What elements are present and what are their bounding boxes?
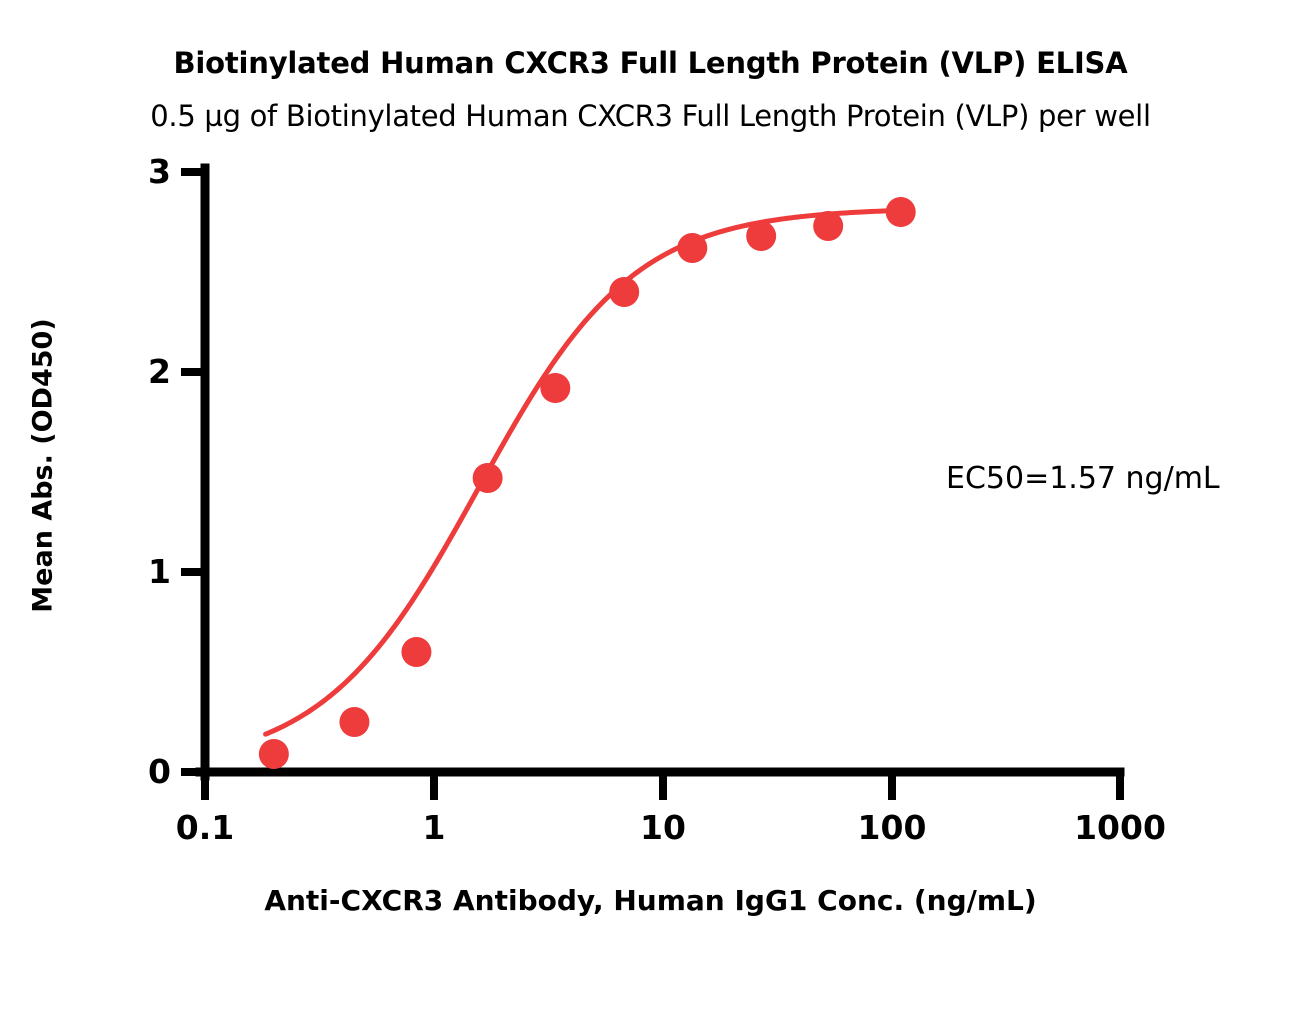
- x-tick-label-10: 10: [640, 808, 686, 847]
- data-point: [259, 739, 289, 769]
- x-tick-label-0p1: 0.1: [176, 808, 234, 847]
- data-point: [746, 221, 776, 251]
- data-point: [886, 197, 916, 227]
- y-tick-label-2: 2: [131, 352, 171, 391]
- y-tick-label-3: 3: [131, 152, 171, 191]
- y-tick-label-1: 1: [131, 552, 171, 591]
- data-point: [677, 233, 707, 263]
- data-point: [609, 277, 639, 307]
- y-tick-label-0: 0: [131, 752, 171, 791]
- x-axis-label: Anti-CXCR3 Antibody, Human IgG1 Conc. (n…: [0, 884, 1301, 917]
- data-point: [401, 637, 431, 667]
- x-tick-label-1: 1: [423, 808, 446, 847]
- elisa-chart-figure: Biotinylated Human CXCR3 Full Length Pro…: [0, 0, 1301, 1029]
- plot-area: [0, 0, 1301, 1029]
- data-point: [473, 463, 503, 493]
- sigmoid-fit-curve: [266, 210, 901, 734]
- data-point: [813, 211, 843, 241]
- data-point: [339, 707, 369, 737]
- data-point: [540, 373, 570, 403]
- ec50-annotation: EC50=1.57 ng/mL: [946, 461, 1220, 496]
- x-tick-label-1000: 1000: [1074, 808, 1166, 847]
- x-tick-label-100: 100: [858, 808, 927, 847]
- y-axis-label: Mean Abs. (OD450): [28, 266, 59, 666]
- data-point-markers: [259, 197, 916, 769]
